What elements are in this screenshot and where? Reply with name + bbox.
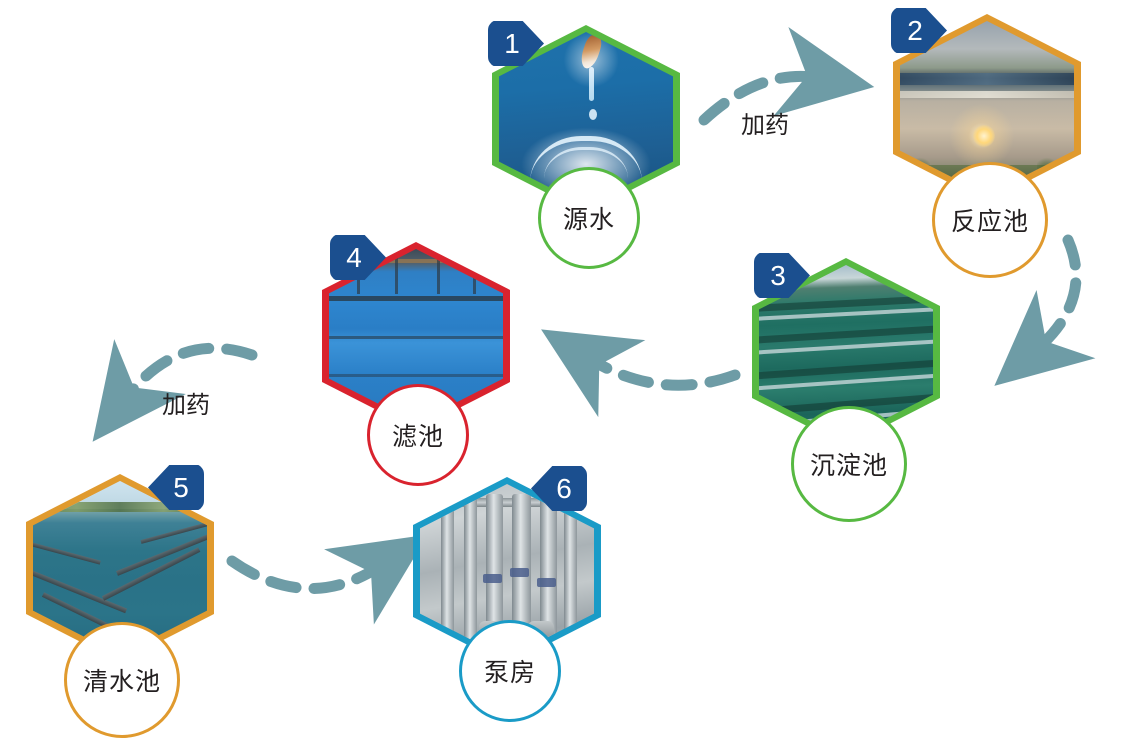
step-label-4: 滤池 — [392, 417, 444, 453]
connector-2-to-3 — [1036, 240, 1076, 350]
step-label-circle-3: 沉淀池 — [791, 406, 907, 522]
step-label-6: 泵房 — [484, 653, 536, 689]
step-label-circle-2: 反应池 — [932, 162, 1048, 278]
step-label-1: 源水 — [563, 200, 615, 236]
step-label-3: 沉淀池 — [810, 446, 888, 482]
step-number-3: 3 — [770, 262, 786, 290]
step-label-circle-4: 滤池 — [367, 384, 469, 486]
connector-label-dosing-2: 加药 — [162, 385, 210, 420]
step-label-5: 清水池 — [83, 662, 161, 698]
step-number-2: 2 — [907, 17, 923, 45]
step-label-circle-1: 源水 — [538, 167, 640, 269]
step-node-6[interactable]: 6 泵房 — [413, 477, 601, 691]
step-node-5[interactable]: 5 清水池 — [26, 474, 214, 688]
connector-3-to-4 — [588, 358, 735, 385]
step-number-1: 1 — [504, 30, 520, 58]
step-number-4: 4 — [346, 244, 362, 272]
step-number-6: 6 — [556, 475, 572, 503]
step-label-circle-6: 泵房 — [459, 620, 561, 722]
step-label-circle-5: 清水池 — [64, 622, 180, 738]
step-label-2: 反应池 — [951, 202, 1029, 238]
process-flow-diagram: 加药 加药 1 源水 2 反应 — [0, 0, 1130, 714]
step-number-5: 5 — [173, 474, 189, 502]
step-node-3[interactable]: 3 沉淀池 — [752, 258, 940, 472]
step-node-2[interactable]: 2 反应池 — [893, 14, 1081, 228]
step-node-4[interactable]: 4 滤池 — [322, 242, 510, 456]
step-node-1[interactable]: 1 源水 — [492, 25, 680, 239]
connector-5-to-6 — [232, 561, 382, 589]
connector-label-dosing-1: 加药 — [741, 105, 789, 140]
